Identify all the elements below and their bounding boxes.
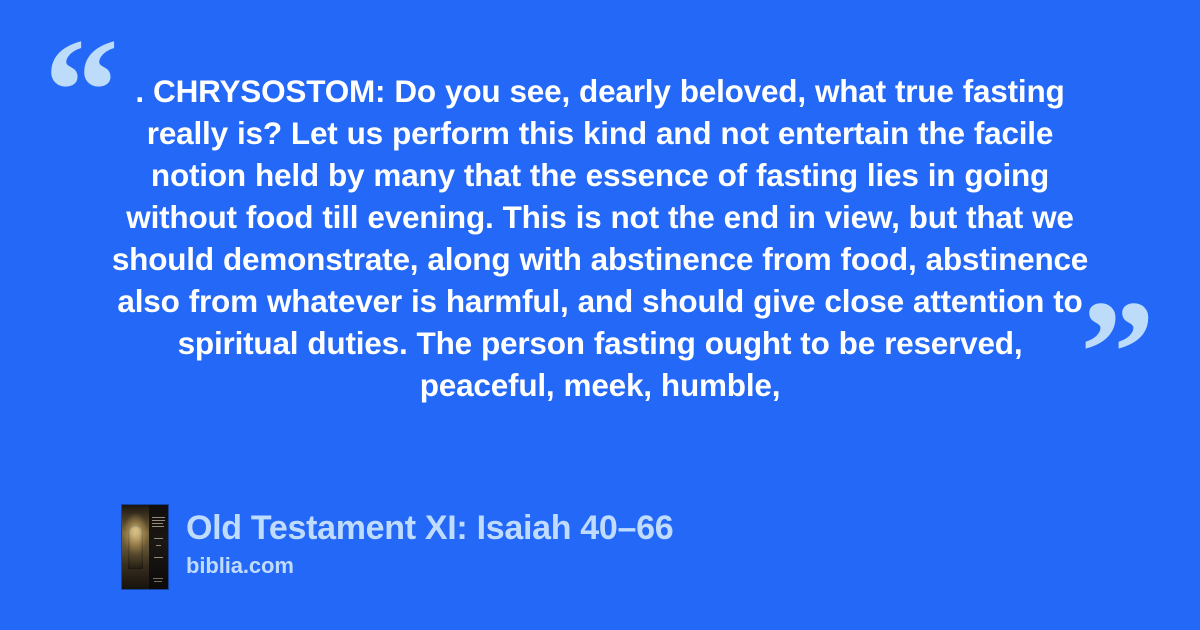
- book-cover-icon[interactable]: [122, 505, 168, 589]
- quote-text: . CHRYSOSTOM: Do you see, dearly beloved…: [110, 70, 1090, 406]
- quote-block: . CHRYSOSTOM: Do you see, dearly beloved…: [110, 70, 1090, 406]
- book-title[interactable]: Old Testament XI: Isaiah 40–66: [186, 507, 673, 549]
- attribution-text: Old Testament XI: Isaiah 40–66 biblia.co…: [186, 505, 673, 579]
- attribution[interactable]: Old Testament XI: Isaiah 40–66 biblia.co…: [122, 505, 673, 589]
- site-name[interactable]: biblia.com: [186, 553, 673, 579]
- book-cover-title-panel: [149, 505, 168, 589]
- book-cover-artwork: [122, 505, 149, 589]
- opening-quote-icon: “: [44, 16, 117, 166]
- quote-card: “ . CHRYSOSTOM: Do you see, dearly belov…: [0, 0, 1200, 630]
- closing-quote-icon: ”: [1080, 278, 1153, 428]
